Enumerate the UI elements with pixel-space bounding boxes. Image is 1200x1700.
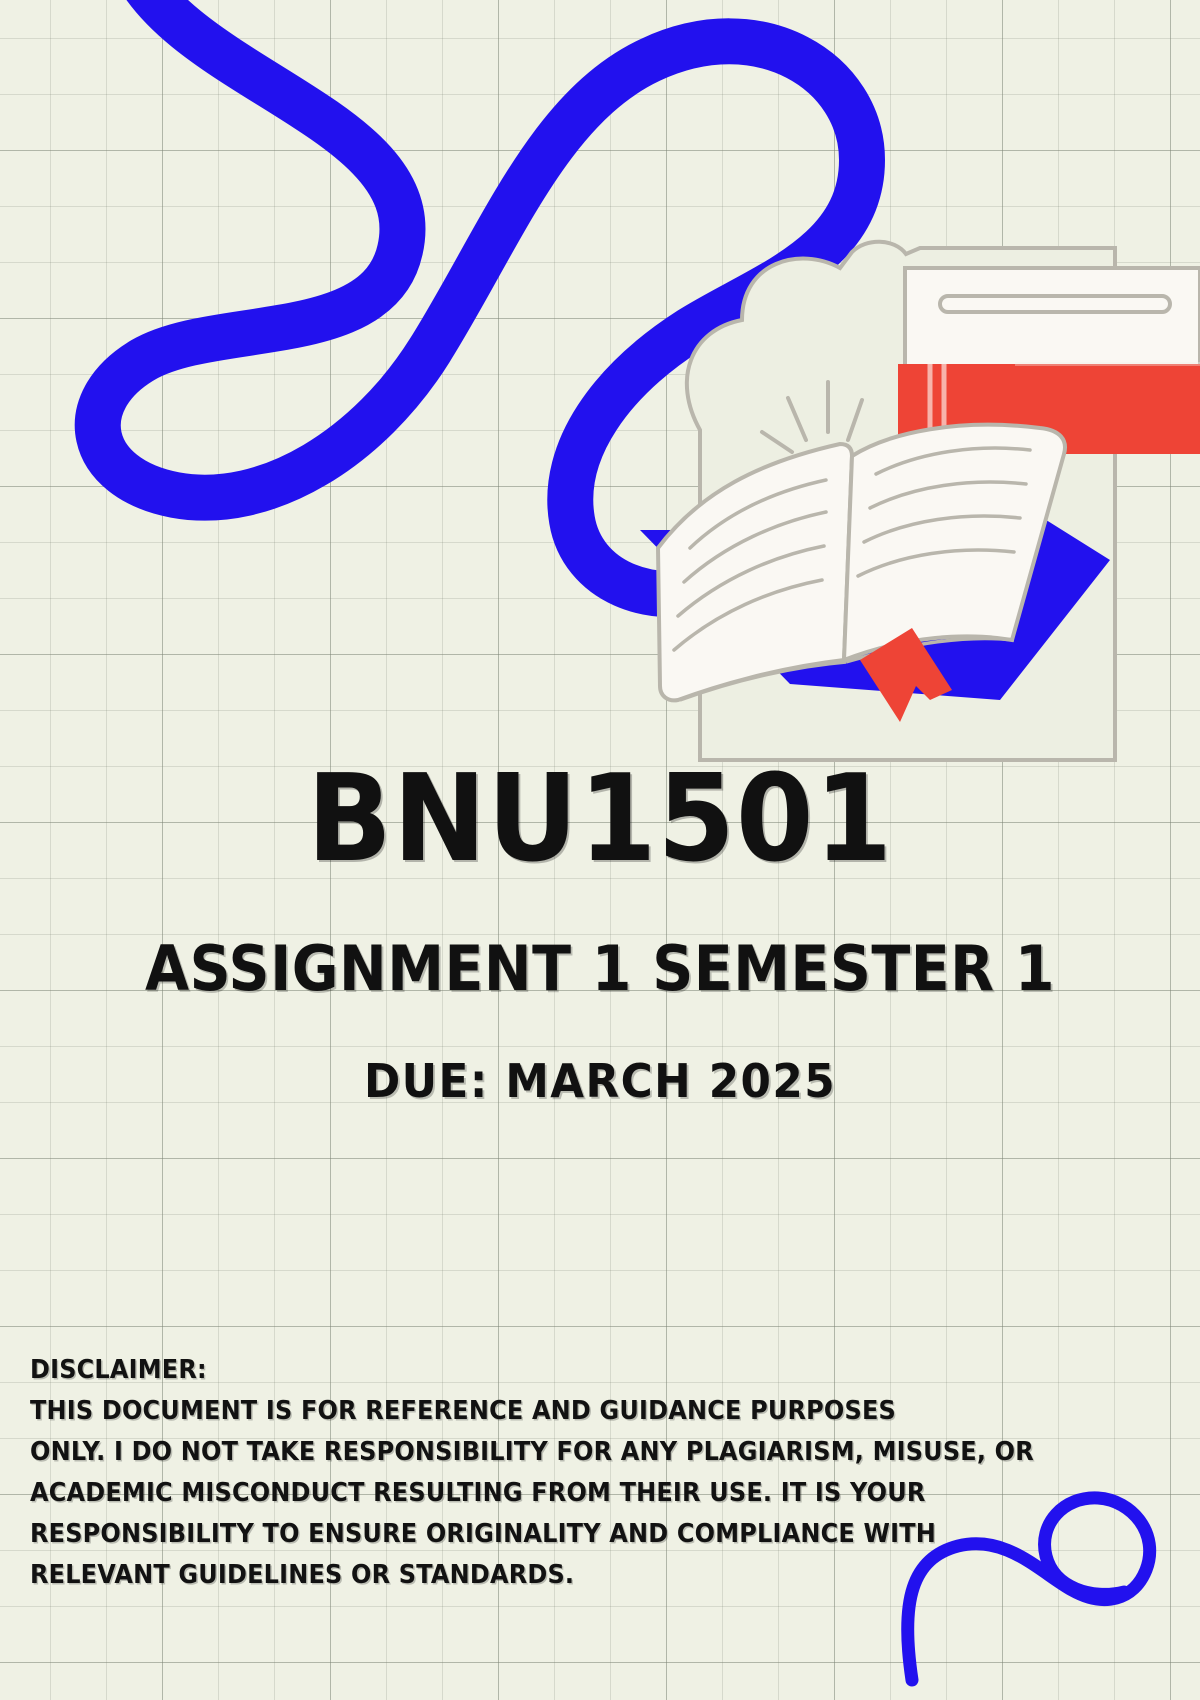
- red-closed-book: [898, 364, 1200, 454]
- illustration-outline: [687, 242, 1115, 760]
- module-code-title: BNU1501: [42, 760, 1158, 880]
- sparkle-lines: [762, 382, 862, 452]
- poster-canvas: BNU1501 ASSIGNMENT 1 SEMESTER 1 DUE: MAR…: [0, 0, 1200, 1700]
- disclaimer-line: RELEVANT GUIDELINES OR STANDARDS.: [30, 1555, 1055, 1596]
- disclaimer-label: DISCLAIMER:: [30, 1350, 1055, 1391]
- disclaimer-line: ONLY. I DO NOT TAKE RESPONSIBILITY FOR A…: [30, 1432, 1055, 1473]
- assignment-subtitle: ASSIGNMENT 1 SEMESTER 1: [48, 938, 1152, 1000]
- disclaimer-line: RESPONSIBILITY TO ENSURE ORIGINALITY AND…: [30, 1514, 1055, 1555]
- blue-book-cover: [640, 466, 1110, 700]
- heading-block: BNU1501 ASSIGNMENT 1 SEMESTER 1 DUE: MAR…: [0, 760, 1200, 1104]
- disclaimer-line: ACADEMIC MISCONDUCT RESULTING FROM THEIR…: [30, 1473, 1055, 1514]
- disclaimer-block: DISCLAIMER: THIS DOCUMENT IS FOR REFEREN…: [30, 1350, 1120, 1596]
- due-date-text: DUE: MARCH 2025: [30, 1058, 1170, 1104]
- disclaimer-line: THIS DOCUMENT IS FOR REFERENCE AND GUIDA…: [30, 1391, 1055, 1432]
- red-bookmark: [860, 628, 952, 722]
- white-paper-card: [905, 268, 1200, 400]
- open-book-pages: [658, 425, 1065, 701]
